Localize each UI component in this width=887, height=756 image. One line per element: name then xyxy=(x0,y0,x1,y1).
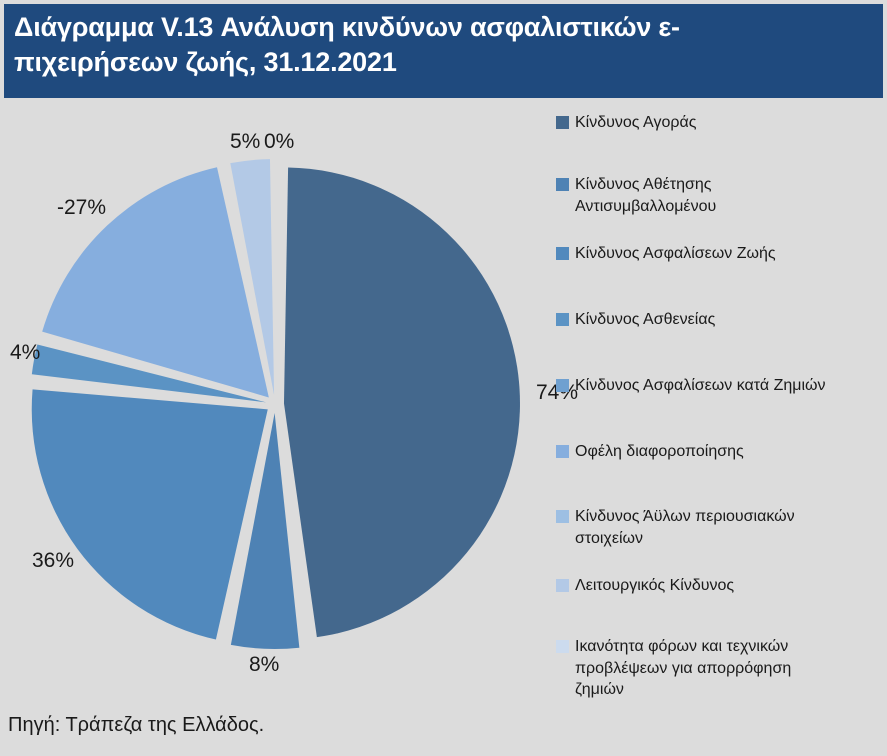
pie-slice[interactable] xyxy=(284,167,520,637)
pie-data-label: 0% xyxy=(264,130,294,154)
chart-page: Διάγραμμα V.13 Ανάλυση κινδύνων ασφαλιστ… xyxy=(0,0,887,756)
legend-swatch-icon xyxy=(556,178,569,191)
page-title: Διάγραμμα V.13 Ανάλυση κινδύνων ασφαλιστ… xyxy=(14,10,873,79)
legend-item[interactable]: Κίνδυνος Ασφαλίσεων Ζωής xyxy=(556,243,881,265)
chart-legend: Κίνδυνος ΑγοράςΚίνδυνος Αθέτησης Αντισυμ… xyxy=(556,98,886,698)
pie-chart-graphic xyxy=(6,98,566,698)
chart-area: 5%0%-27%4%74%36%8% Κίνδυνος ΑγοράςΚίνδυν… xyxy=(0,98,887,702)
legend-item[interactable]: Οφέλη διαφοροποίησης xyxy=(556,441,881,463)
pie-data-label: -27% xyxy=(57,196,106,220)
legend-swatch-icon xyxy=(556,579,569,592)
legend-item-label: Κίνδυνος Ασθενείας xyxy=(575,309,715,331)
pie-data-label: 4% xyxy=(10,341,40,365)
legend-swatch-icon xyxy=(556,116,569,129)
pie-slice[interactable] xyxy=(32,389,268,639)
legend-swatch-icon xyxy=(556,379,569,392)
chart-title-band: Διάγραμμα V.13 Ανάλυση κινδύνων ασφαλιστ… xyxy=(4,4,883,98)
pie-data-label: 8% xyxy=(249,653,279,677)
legend-item-label: Κίνδυνος Αθέτησης Αντισυμβαλλομένου xyxy=(575,174,716,217)
pie-data-label: 36% xyxy=(32,549,74,573)
legend-item-label: Κίνδυνος Αγοράς xyxy=(575,112,696,134)
legend-item[interactable]: Κίνδυνος Αγοράς xyxy=(556,112,881,134)
legend-item[interactable]: Ικανότητα φόρων και τεχνικών προβλέψεων … xyxy=(556,636,881,701)
legend-swatch-icon xyxy=(556,247,569,260)
pie-data-label: 5% xyxy=(230,130,260,154)
legend-item[interactable]: Λειτουργικός Κίνδυνος xyxy=(556,575,881,597)
legend-swatch-icon xyxy=(556,313,569,326)
legend-swatch-icon xyxy=(556,445,569,458)
legend-item-label: Οφέλη διαφοροποίησης xyxy=(575,441,744,463)
legend-swatch-icon xyxy=(556,640,569,653)
legend-item[interactable]: Κίνδυνος Αθέτησης Αντισυμβαλλομένου xyxy=(556,174,881,217)
legend-item-label: Κίνδυνος Ασφαλίσεων κατά Ζημιών xyxy=(575,375,826,397)
legend-item[interactable]: Κίνδυνος Ασφαλίσεων κατά Ζημιών xyxy=(556,375,881,397)
legend-swatch-icon xyxy=(556,510,569,523)
legend-item-label: Ικανότητα φόρων και τεχνικών προβλέψεων … xyxy=(575,636,791,701)
legend-item-label: Λειτουργικός Κίνδυνος xyxy=(575,575,734,597)
legend-item[interactable]: Κίνδυνος Ασθενείας xyxy=(556,309,881,331)
legend-item-label: Κίνδυνος Ασφαλίσεων Ζωής xyxy=(575,243,776,265)
source-note: Πηγή: Τράπεζα της Ελλάδος. xyxy=(8,714,264,737)
legend-item-label: Κίνδυνος Άϋλων περιουσιακών στοιχείων xyxy=(575,506,795,549)
pie-plot-area: 5%0%-27%4%74%36%8% Κίνδυνος ΑγοράςΚίνδυν… xyxy=(6,98,872,698)
legend-item[interactable]: Κίνδυνος Άϋλων περιουσιακών στοιχείων xyxy=(556,506,881,549)
source-row: Πηγή: Τράπεζα της Ελλάδος. xyxy=(0,702,887,756)
